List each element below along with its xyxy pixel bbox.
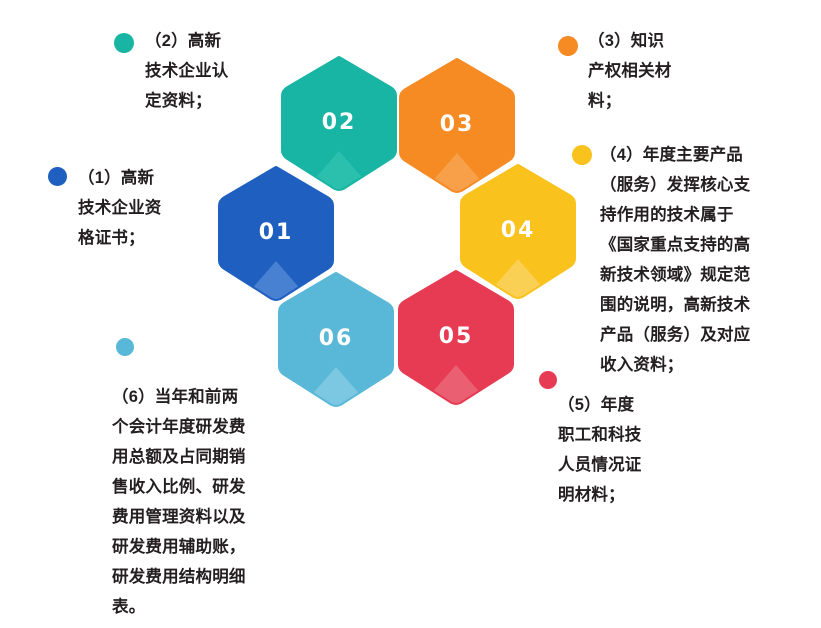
callout-text-5: （5）年度 职工和科技 人员情况证 明材料； <box>558 390 708 510</box>
bullet-dot-icon-2 <box>114 33 134 53</box>
hexagon-02-shape <box>281 56 397 190</box>
callout-text-2: （2）高新 技术企业认 定资料； <box>145 26 295 116</box>
callout-text-4: （4）年度主要产品 （服务）发挥核心支 持作用的技术属于 《国家重点支持的高 新… <box>600 140 810 380</box>
bullet-dot-icon-6 <box>116 338 134 356</box>
callout-text-3: （3）知识 产权相关材 料； <box>588 26 753 116</box>
callout-text-6: （6）当年和前两 个会计年度研发费 用总额及占同期销 售收入比例、研发 费用管理… <box>112 382 302 622</box>
bullet-dot-icon-1 <box>48 167 67 186</box>
bullet-dot-icon-3 <box>558 36 578 56</box>
bullet-dot-icon-4 <box>572 145 592 165</box>
hexagon-05[interactable]: 05 <box>398 270 514 404</box>
diagram-canvas: 01 02 03 <box>0 0 821 628</box>
callout-text-1: （1）高新 技术企业资 格证书； <box>78 163 228 253</box>
hexagon-02[interactable]: 02 <box>281 56 397 190</box>
bullet-dot-icon-5 <box>539 371 557 389</box>
hexagon-05-shape <box>398 270 514 404</box>
